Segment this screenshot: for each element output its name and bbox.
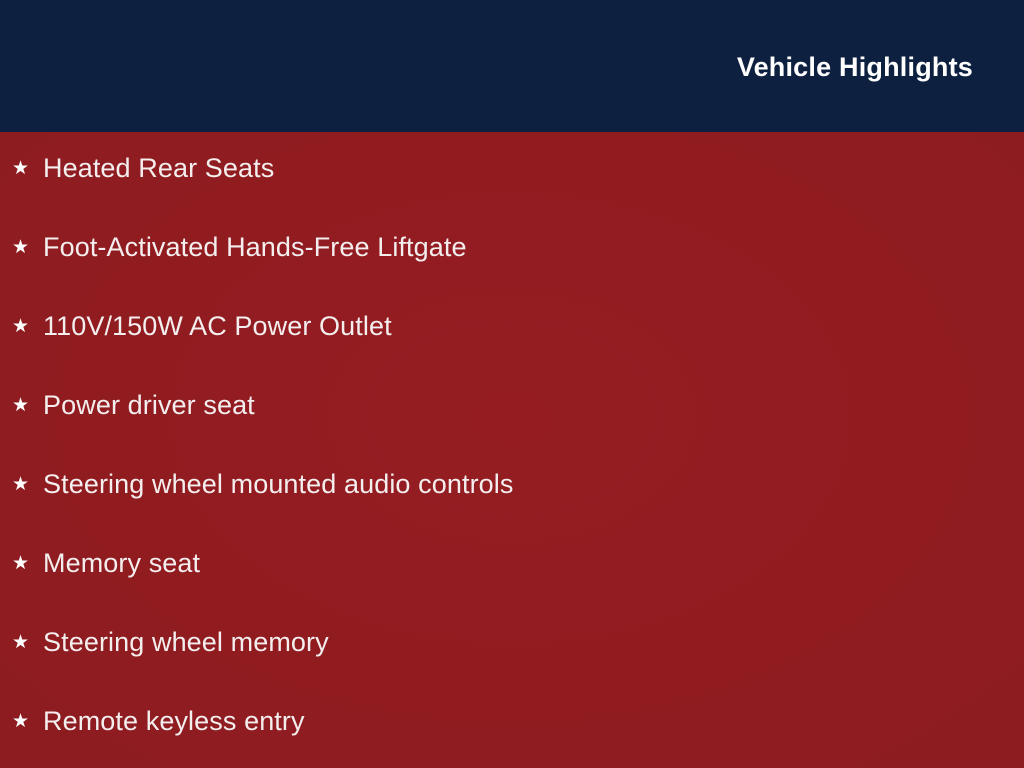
star-bullet-icon: ★ [12, 554, 43, 573]
vehicle-highlights-slide: Vehicle Highlights ★Heated Rear Seats★Fo… [0, 0, 1024, 768]
list-item: ★Memory seat [12, 546, 200, 582]
list-item: ★Heated Rear Seats [12, 151, 274, 187]
highlight-item-label: Steering wheel memory [43, 627, 329, 658]
star-bullet-icon: ★ [12, 396, 43, 415]
highlight-item-label: Memory seat [43, 548, 200, 579]
slide-header-band: Vehicle Highlights [0, 0, 1024, 132]
slide-body-panel: ★Heated Rear Seats★Foot-Activated Hands-… [0, 132, 1024, 768]
highlight-item-label: Foot-Activated Hands-Free Liftgate [43, 232, 467, 263]
list-item: ★Steering wheel mounted audio controls [12, 467, 514, 503]
highlight-item-label: 110V/150W AC Power Outlet [43, 311, 392, 342]
list-item: ★Steering wheel memory [12, 625, 329, 661]
list-item: ★110V/150W AC Power Outlet [12, 309, 392, 345]
highlight-item-label: Heated Rear Seats [43, 153, 274, 184]
star-bullet-icon: ★ [12, 633, 43, 652]
list-item: ★Foot-Activated Hands-Free Liftgate [12, 230, 467, 266]
star-bullet-icon: ★ [12, 475, 43, 494]
highlight-item-label: Remote keyless entry [43, 706, 305, 737]
list-item: ★Remote keyless entry [12, 704, 305, 740]
highlight-item-label: Power driver seat [43, 390, 255, 421]
page-title: Vehicle Highlights [737, 53, 973, 83]
star-bullet-icon: ★ [12, 712, 43, 731]
star-bullet-icon: ★ [12, 159, 43, 178]
star-bullet-icon: ★ [12, 317, 43, 336]
highlight-item-label: Steering wheel mounted audio controls [43, 469, 514, 500]
star-bullet-icon: ★ [12, 238, 43, 257]
list-item: ★Power driver seat [12, 388, 255, 424]
